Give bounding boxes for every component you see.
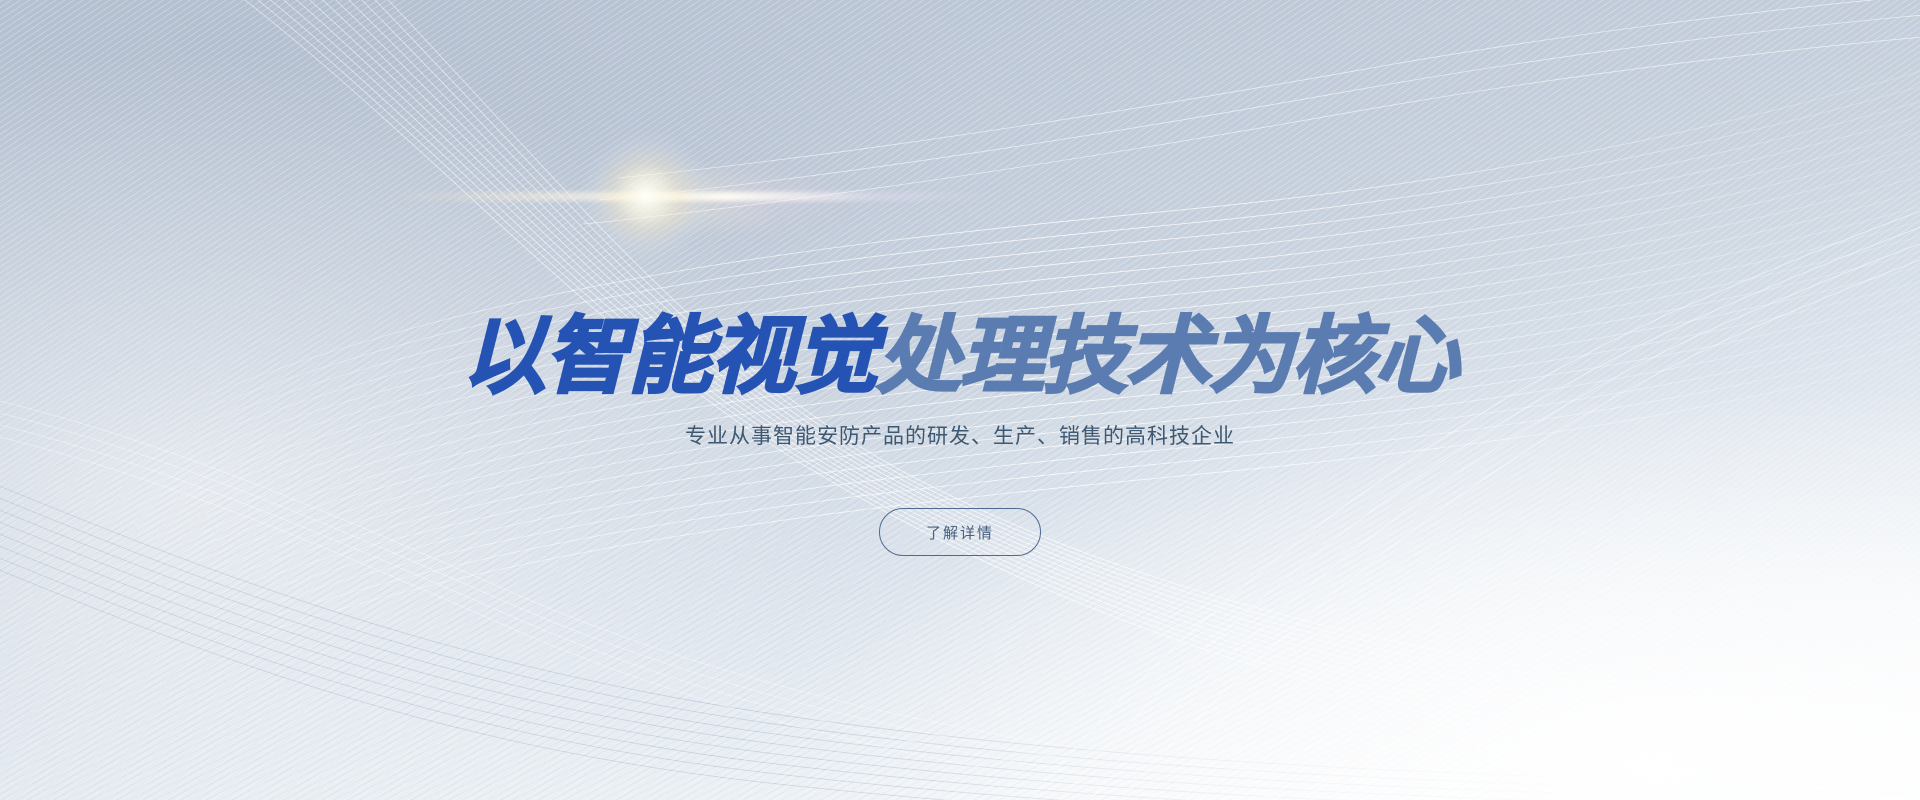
headline-segment-muted: 处理技术为核心 [877, 309, 1458, 403]
hero-cta-container: 了解详情 [0, 508, 1920, 556]
hero-banner: 以智能视觉处理技术为核心 专业从事智能安防产品的研发、生产、销售的高科技企业 了… [0, 0, 1920, 800]
hero-subtitle: 专业从事智能安防产品的研发、生产、销售的高科技企业 [0, 421, 1920, 453]
hero-headline: 以智能视觉处理技术为核心 [0, 314, 1920, 398]
hero-content: 以智能视觉处理技术为核心 专业从事智能安防产品的研发、生产、销售的高科技企业 了… [0, 0, 1920, 800]
learn-more-button[interactable]: 了解详情 [879, 508, 1041, 556]
headline-segment-strong: 以智能视觉 [462, 309, 877, 403]
